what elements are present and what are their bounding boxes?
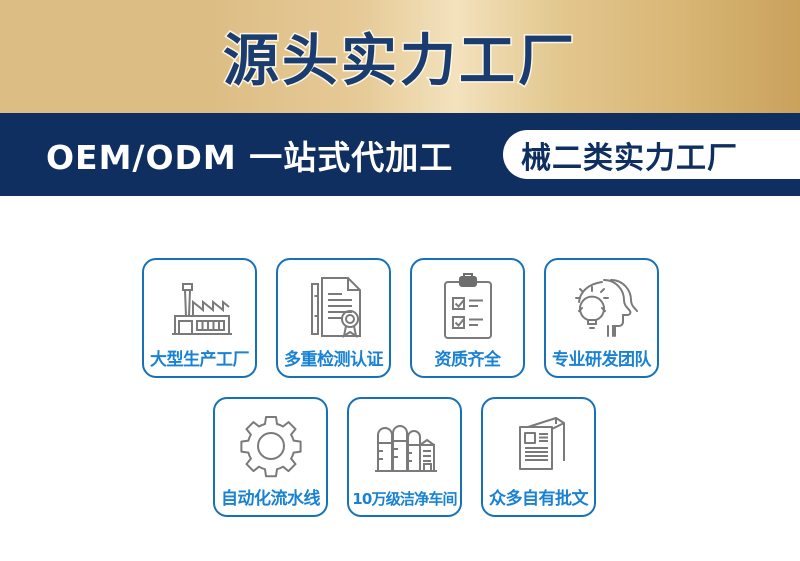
hero-gold-banner: 源头实力工厂 [0,0,800,113]
feature-card-label: 资质齐全 [406,345,529,370]
feature-card-label: 众多自有批文 [477,484,600,509]
feature-card-label: 专业研发团队 [540,345,663,370]
silo-plant-icon [349,407,460,485]
feature-card-label: 10万级洁净车间 [343,488,466,509]
feature-card-row-2: 自动化流水线 10万级洁净车间 [213,397,596,517]
feature-card-clean-workshop[interactable]: 10万级洁净车间 [347,397,462,517]
subheader-pill: 械二类实力工厂 [503,130,800,179]
feature-card-large-factory[interactable]: 大型生产工厂 [142,258,257,378]
feature-card-full-qualification[interactable]: 资质齐全 [410,258,525,378]
feature-card-own-approvals[interactable]: 众多自有批文 [481,397,596,517]
feature-card-rnd-team[interactable]: 专业研发团队 [544,258,659,378]
lightbulb-heads-icon [546,268,657,346]
document-spread-icon [483,407,594,485]
feature-card-label: 大型生产工厂 [138,345,261,370]
feature-card-multi-certification[interactable]: 多重检测认证 [276,258,391,378]
clipboard-check-icon [412,268,523,346]
certificate-icon [278,268,389,346]
subheader-headline: OEM/ODM 一站式代加工 [46,113,453,196]
factory-icon [144,268,255,346]
feature-card-label: 多重检测认证 [272,345,395,370]
feature-card-label: 自动化流水线 [209,484,332,509]
feature-card-row-1: 大型生产工厂 多重检测认证 [142,258,659,378]
feature-card-automation-line[interactable]: 自动化流水线 [213,397,328,517]
hero-title: 源头实力工厂 [0,0,800,113]
gear-icon [215,407,326,485]
subheader-navy-banner: OEM/ODM 一站式代加工 械二类实力工厂 [0,113,800,196]
subheader-pill-label: 械二类实力工厂 [521,133,738,177]
